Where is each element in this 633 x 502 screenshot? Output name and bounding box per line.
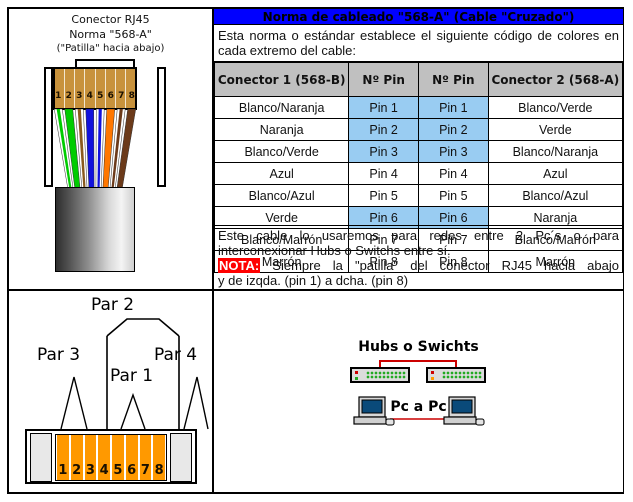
cell-c2: Verde [488, 119, 622, 141]
col-pin-1: Nº Pin [349, 63, 419, 97]
table-row: Blanco/NaranjaPin 1Pin 1Blanco/Verde [215, 97, 623, 119]
jack-pin-7: 7 [140, 435, 152, 480]
jack-pin-number: 6 [126, 463, 138, 478]
standard-intro-text: Esta norma o estándar establece el sigui… [214, 26, 623, 62]
hub-led-red-left [355, 371, 358, 374]
jack-pin-number: 5 [112, 463, 124, 478]
plug-caption-line2: Norma "568-A" [9, 28, 212, 41]
cell-p1: Pin 4 [349, 163, 419, 185]
hub-led-red-right [431, 371, 434, 374]
pc-to-pc-title: Pc a Pc [214, 399, 623, 415]
cell-p2: Pin 4 [418, 163, 488, 185]
hubs-title: Hubs o Swichts [214, 339, 623, 355]
standard-header-title: Norma de cableado "568-A" (Cable "Cruzad… [214, 9, 623, 25]
nota-line: NOTA: Siempre la "patilla" del conector … [218, 258, 619, 273]
plug-pin-numbers: 12345678 [53, 91, 137, 101]
pc-link-cable [214, 411, 623, 451]
panel-wiring-standard: Norma de cableado "568-A" (Cable "Cruzad… [213, 8, 624, 290]
jack-pin-number: 3 [85, 463, 97, 478]
hub-led-green-left [355, 377, 358, 380]
cell-c1: Azul [215, 163, 349, 185]
jack-pin-number: 2 [71, 463, 83, 478]
plug-wire-bundle [53, 109, 137, 189]
plug-side-left [44, 67, 53, 187]
plug-pin-number: 5 [95, 91, 106, 101]
label-par-3: Par 3 [37, 345, 80, 365]
footer-line-2: interconexionar Hubs o Switchs entre sí. [218, 243, 619, 258]
plug-caption-line3: ("Patilla" hacia abajo) [9, 43, 212, 54]
jack-pin-number: 1 [57, 463, 69, 478]
plug-pin-number: 3 [74, 91, 85, 101]
table-row: Blanco/AzulPin 5Pin 5Blanco/Azul [215, 185, 623, 207]
label-par-2: Par 2 [91, 295, 134, 315]
cable-sheath [55, 187, 135, 272]
plug-pin-number: 1 [53, 91, 64, 101]
cell-c1: Blanco/Azul [215, 185, 349, 207]
table-row: NaranjaPin 2Pin 2Verde [215, 119, 623, 141]
cell-c1: Naranja [215, 119, 349, 141]
col-connector-1: Conector 1 (568-B) [215, 63, 349, 97]
cell-p2: Pin 3 [418, 141, 488, 163]
wire-8 [53, 109, 137, 189]
plug-pin-number: 2 [64, 91, 75, 101]
jack-pin-3: 3 [85, 435, 97, 480]
label-par-4: Par 4 [154, 345, 197, 365]
hub-link-cable [214, 357, 623, 387]
jack-pin-2: 2 [71, 435, 83, 480]
jack-pin-8: 8 [153, 435, 165, 480]
cell-p1: Pin 5 [349, 185, 419, 207]
jack-pin-5: 5 [112, 435, 124, 480]
diagram-root: Conector RJ45 Norma "568-A" ("Patilla" h… [0, 0, 633, 502]
hub-icon-left [350, 367, 410, 383]
rj45-jack-drawing: 12345678 [25, 429, 197, 484]
col-pin-2: Nº Pin [418, 63, 488, 97]
hub-icon-right [426, 367, 486, 383]
table-row: AzulPin 4Pin 4Azul [215, 163, 623, 185]
footer-line-1: Este cable lo usaremos para redes entre … [218, 228, 619, 243]
plug-side-right [157, 67, 166, 187]
cell-p1: Pin 2 [349, 119, 419, 141]
col-connector-2: Conector 2 (568-A) [488, 63, 622, 97]
panel-rj45-plug: Conector RJ45 Norma "568-A" ("Patilla" h… [8, 8, 213, 290]
jack-pin-4: 4 [98, 435, 110, 480]
cell-c2: Blanco/Naranja [488, 141, 622, 163]
cell-p1: Pin 3 [349, 141, 419, 163]
cell-p2: Pin 5 [418, 185, 488, 207]
cell-p2: Pin 1 [418, 97, 488, 119]
standard-footer-text: Este cable lo usaremos para redes entre … [214, 225, 623, 289]
plug-pin-number: 7 [116, 91, 127, 101]
cell-c2: Blanco/Verde [488, 97, 622, 119]
plug-pin-columns [55, 69, 135, 108]
cell-c2: Azul [488, 163, 622, 185]
cell-c1: Blanco/Verde [215, 141, 349, 163]
plug-pin-number: 4 [85, 91, 96, 101]
jack-pin-row: 12345678 [55, 434, 167, 481]
jack-pin-number: 8 [153, 463, 165, 478]
cell-p2: Pin 2 [418, 119, 488, 141]
plug-caption-line1: Conector RJ45 [9, 13, 212, 26]
jack-pin-number: 7 [140, 463, 152, 478]
nota-text: Siempre la "patilla" del conector RJ45 h… [272, 258, 619, 273]
cell-c1: Blanco/Naranja [215, 97, 349, 119]
jack-side-left [30, 433, 52, 482]
hub-port-grid-right [442, 371, 482, 379]
plug-pin-number: 6 [106, 91, 117, 101]
panel-pair-diagram: Par 2 Par 3 Par 1 Par 4 12345678 [8, 290, 213, 493]
label-par-1: Par 1 [110, 366, 153, 386]
rj45-plug-drawing: 12345678 [33, 59, 183, 284]
jack-pin-number: 4 [98, 463, 110, 478]
table-row: Blanco/VerdePin 3Pin 3Blanco/Naranja [215, 141, 623, 163]
table-header-row: Conector 1 (568-B) Nº Pin Nº Pin Conecto… [215, 63, 623, 97]
plug-contact-body [53, 67, 137, 110]
hub-led-amber-right [431, 377, 434, 380]
nota-line-2: y de izqda. (pin 1) a dcha. (pin 8) [218, 273, 619, 288]
jack-pin-1: 1 [57, 435, 69, 480]
cell-c2: Blanco/Azul [488, 185, 622, 207]
jack-side-right [170, 433, 192, 482]
cell-p1: Pin 1 [349, 97, 419, 119]
plug-pin-number: 8 [127, 91, 138, 101]
nota-badge: NOTA: [218, 258, 260, 273]
hub-port-grid-left [366, 371, 406, 379]
jack-pin-6: 6 [126, 435, 138, 480]
panel-usage-examples: Hubs o Swichts [213, 290, 624, 493]
